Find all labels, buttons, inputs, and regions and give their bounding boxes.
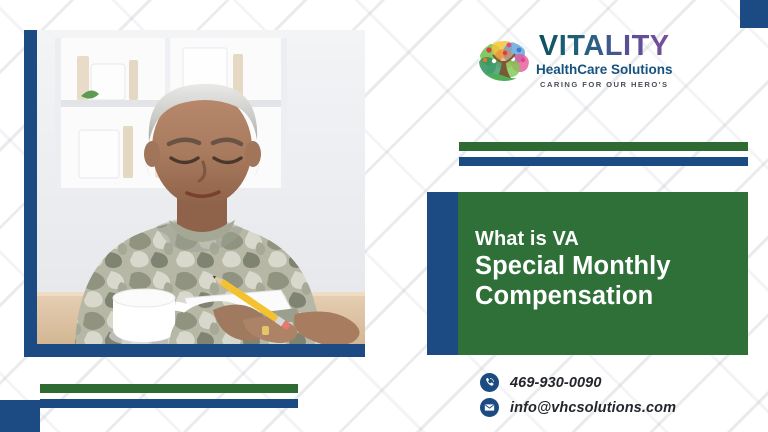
header-accent-bars xyxy=(459,142,748,166)
photo-frame xyxy=(24,30,365,357)
brand-logo[interactable]: VITALITY HealthCare Solutions CARING FOR… xyxy=(478,33,728,88)
corner-accent-top-right xyxy=(740,0,768,28)
headline-text: What is VA Special Monthly Compensation xyxy=(475,228,740,312)
phone-icon xyxy=(480,373,499,392)
headline-title-line2: Compensation xyxy=(475,282,740,312)
watercolor-tree-circle-icon xyxy=(478,35,530,87)
bottom-accent-bars xyxy=(40,384,298,408)
headline-title-line1: Special Monthly xyxy=(475,252,740,282)
accent-bar-green xyxy=(40,384,298,393)
header-bar-navy xyxy=(459,157,748,166)
brand-tagline: CARING FOR OUR HERO'S xyxy=(540,80,668,89)
brand-subtitle: HealthCare Solutions xyxy=(536,62,673,79)
headline-title: Special Monthly Compensation xyxy=(475,252,740,312)
header-bar-green xyxy=(459,142,748,151)
phone-number: 469-930-0090 xyxy=(510,375,602,391)
brand-wordmark: VITALITY HealthCare Solutions CARING FOR… xyxy=(536,32,673,89)
corner-accent-bottom-left xyxy=(0,400,40,432)
contact-row-email[interactable]: info@vhcsolutions.com xyxy=(480,395,676,420)
headline-block: What is VA Special Monthly Compensation xyxy=(427,192,748,355)
envelope-icon xyxy=(480,398,499,417)
brand-name: VITALITY xyxy=(539,32,670,61)
headline-side-strip xyxy=(427,192,458,355)
contact-row-phone[interactable]: 469-930-0090 xyxy=(480,370,676,395)
contact-info: 469-930-0090 info@vhcsolutions.com xyxy=(480,370,676,420)
email-address: info@vhcsolutions.com xyxy=(510,400,676,416)
photo-frame-border xyxy=(24,30,365,357)
accent-bar-navy xyxy=(40,399,298,408)
headline-kicker: What is VA xyxy=(475,228,740,250)
slide-canvas: VITALITY HealthCare Solutions CARING FOR… xyxy=(0,0,768,432)
